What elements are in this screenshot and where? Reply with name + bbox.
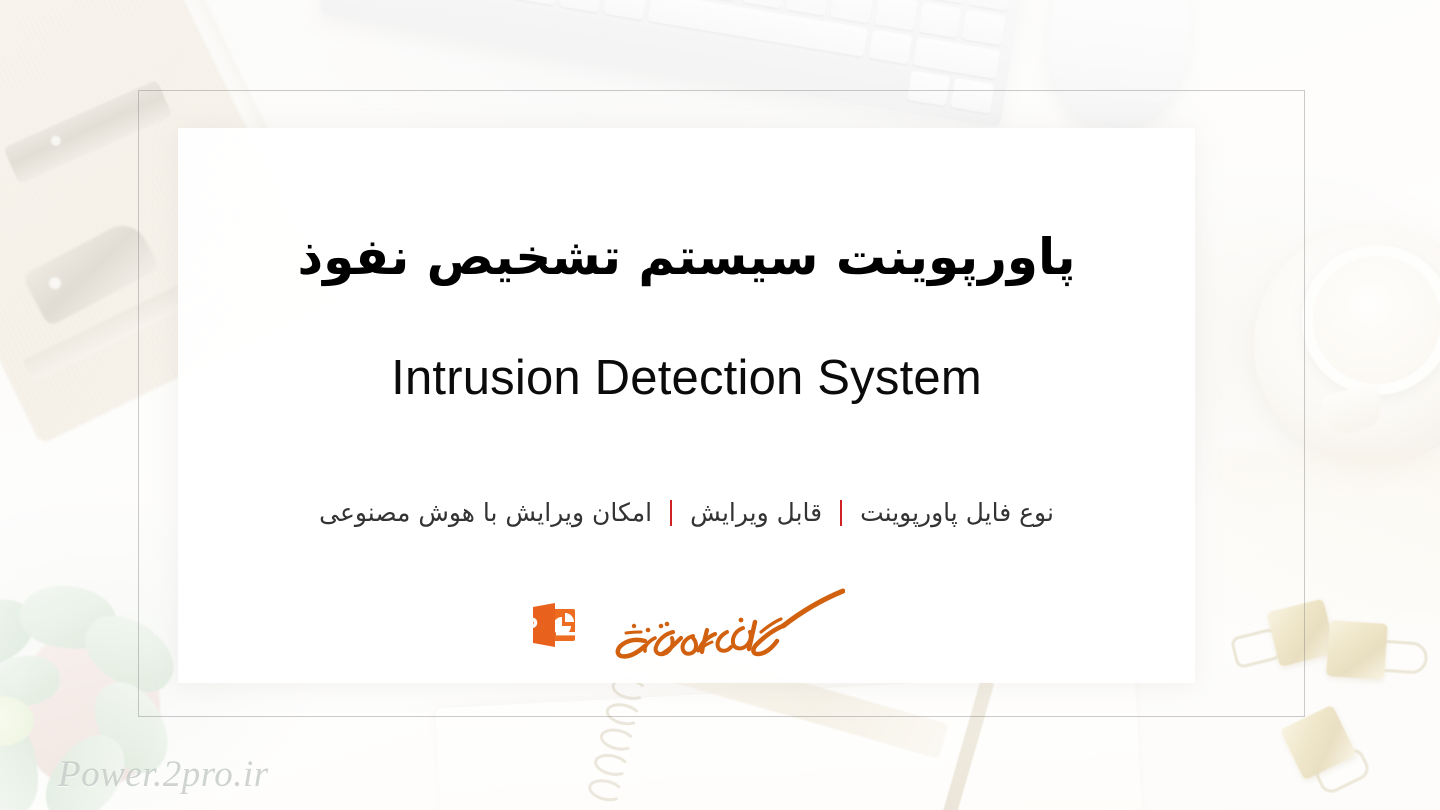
feature-item-file-type: نوع فایل پاورپوینت [842, 498, 1072, 527]
branding-row: P [178, 590, 1195, 660]
page-title-persian: پاورپوینت سیستم تشخیص نفوذ [178, 226, 1195, 289]
feature-separator-icon [670, 500, 672, 526]
svg-text:P: P [529, 613, 538, 640]
keyboard-keys-decor [333, 0, 1018, 114]
slide-canvas: پاورپوینت سیستم تشخیص نفوذ Intrusion Det… [0, 0, 1440, 810]
paper-edge-decor [1216, 452, 1440, 622]
content-card: پاورپوینت سیستم تشخیص نفوذ Intrusion Det… [178, 128, 1195, 683]
page-title-english: Intrusion Detection System [178, 350, 1195, 406]
feature-list: نوع فایل پاورپوینت قابل ویرایش امکان ویر… [178, 498, 1195, 527]
feature-item-editable: قابل ویرایش [672, 498, 840, 527]
feature-separator-icon [840, 500, 842, 526]
cafe-powerpoint-calligraphy-icon [615, 586, 845, 664]
mouse-decor [1041, 0, 1197, 131]
feature-item-ai-editing: امکان ویرایش با هوش مصنوعی [301, 498, 670, 527]
keyboard-decor [319, 0, 1031, 128]
site-watermark: Power.2pro.ir [58, 753, 269, 796]
powerpoint-icon: P [529, 601, 581, 649]
coffee-cup-decor [1302, 245, 1440, 395]
brand-script-logo [615, 590, 845, 660]
